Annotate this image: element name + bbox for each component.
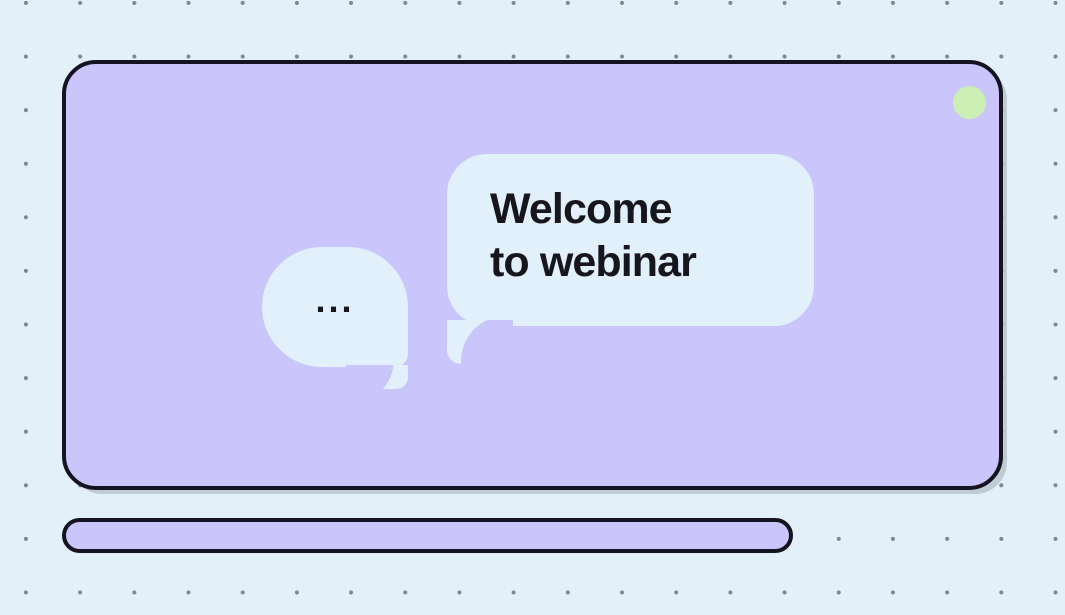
webinar-card: ... Welcome to webinar (62, 60, 1003, 490)
typing-dots: ... (262, 290, 408, 310)
typing-indicator-bubble: ... (262, 247, 408, 367)
welcome-bubble-tail (447, 320, 513, 364)
progress-bar[interactable] (62, 518, 793, 553)
online-status-indicator (953, 86, 986, 119)
welcome-message-text: Welcome to webinar (490, 183, 790, 289)
welcome-message-bubble: Welcome to webinar (447, 154, 814, 326)
typing-bubble-tail (346, 365, 408, 389)
